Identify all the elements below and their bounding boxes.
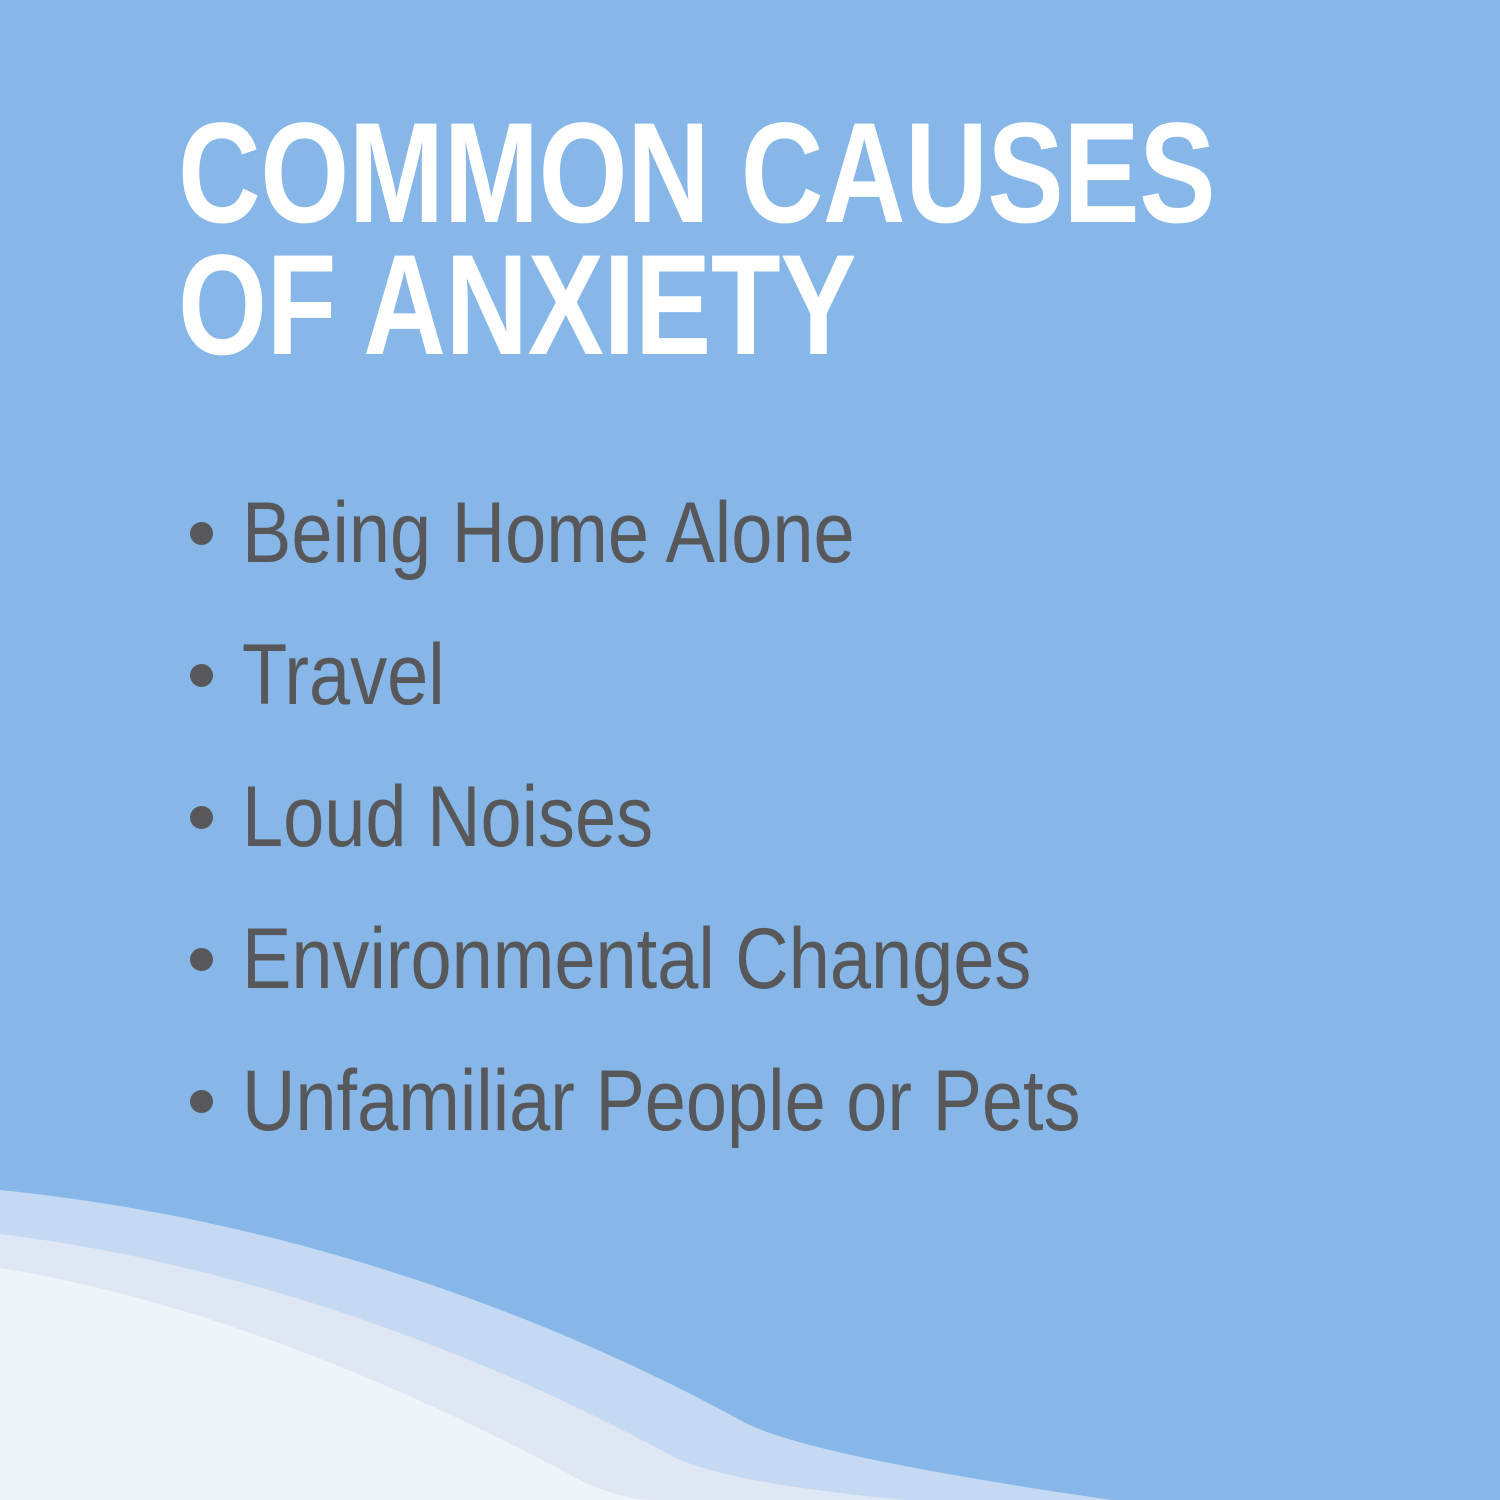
poster-canvas: COMMON CAUSES OF ANXIETY Being Home Alon…: [0, 0, 1500, 1500]
arc-outer-band-shape: [0, 1190, 1112, 1500]
list-item-label: Unfamiliar People or Pets: [242, 1055, 1081, 1147]
bullet-dot-icon: [190, 806, 213, 829]
page-title-line-1: COMMON CAUSES: [178, 108, 1138, 240]
list-item: Unfamiliar People or Pets: [190, 1030, 1450, 1172]
list-item: Travel: [190, 604, 1450, 746]
bullet-dot-icon: [190, 948, 213, 971]
list-item-label: Being Home Alone: [242, 487, 855, 579]
bullet-dot-icon: [190, 664, 213, 687]
list-item-label: Travel: [242, 629, 445, 721]
list-item-label: Loud Noises: [242, 771, 653, 863]
bullet-dot-icon: [190, 522, 213, 545]
list-item-label: Environmental Changes: [242, 913, 1031, 1005]
common-causes-list: Being Home Alone Travel Loud Noises Envi…: [190, 462, 1450, 1172]
arc-inner-band-shape: [0, 1268, 646, 1500]
page-title: COMMON CAUSES OF ANXIETY: [178, 108, 1378, 372]
list-item: Environmental Changes: [190, 888, 1450, 1030]
list-item: Loud Noises: [190, 746, 1450, 888]
arc-middle-band-shape: [0, 1234, 904, 1500]
bullet-dot-icon: [190, 1090, 213, 1113]
page-title-line-2: OF ANXIETY: [178, 240, 1138, 372]
list-item: Being Home Alone: [190, 462, 1450, 604]
